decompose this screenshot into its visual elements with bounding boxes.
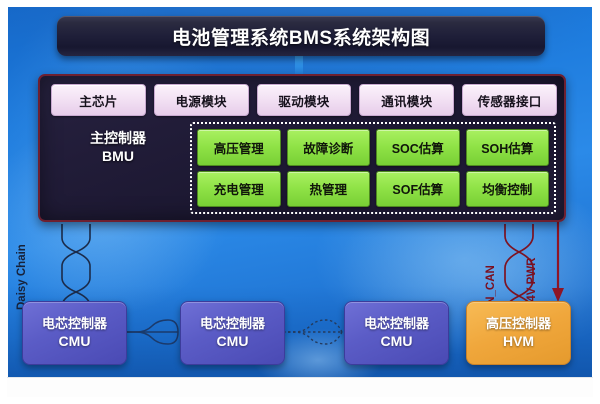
module-box-main-chip[interactable]: 主芯片	[51, 84, 146, 116]
module-box-communication[interactable]: 通讯模块	[359, 84, 454, 116]
hvm-line1: 高压控制器	[486, 315, 551, 333]
module-box-sensor-interface[interactable]: 传感器接口	[462, 84, 557, 116]
function-box-balance-control[interactable]: 均衡控制	[466, 171, 550, 208]
function-row-2: 充电管理 热管理 SOF估算 均衡控制	[197, 171, 549, 208]
cmu-2-line1: 电芯控制器	[200, 315, 265, 333]
function-box-soc-estimation[interactable]: SOC估算	[376, 129, 460, 166]
controller-box-cmu-3[interactable]: 电芯控制器 CMU	[344, 301, 449, 365]
bmu-label-line2: BMU	[54, 147, 182, 165]
function-row-1: 高压管理 故障诊断 SOC估算 SOH估算	[197, 129, 549, 166]
cmu-1-line2: CMU	[59, 332, 91, 351]
module-box-drive[interactable]: 驱动模块	[257, 84, 352, 116]
cmu-2-line2: CMU	[217, 332, 249, 351]
bms-architecture-diagram: 电池管理系统BMS系统架构图 主芯片 电源模块 驱动模块 通讯模块 传感器接口 …	[0, 0, 600, 404]
function-box-thermal-management[interactable]: 热管理	[287, 171, 371, 208]
page-title: 电池管理系统BMS系统架构图	[172, 23, 430, 50]
function-grid: 高压管理 故障诊断 SOC估算 SOH估算 充电管理 热管理 SOF估算 均衡控…	[190, 122, 556, 214]
controller-box-cmu-1[interactable]: 电芯控制器 CMU	[22, 301, 127, 365]
function-box-soh-estimation[interactable]: SOH估算	[466, 129, 550, 166]
function-box-sof-estimation[interactable]: SOF估算	[376, 171, 460, 208]
function-box-hv-management[interactable]: 高压管理	[197, 129, 281, 166]
module-box-power[interactable]: 电源模块	[154, 84, 249, 116]
diagram-title-bar: 电池管理系统BMS系统架构图	[57, 16, 545, 56]
cmu-3-line2: CMU	[381, 332, 413, 351]
cmu-1-line1: 电芯控制器	[42, 315, 107, 333]
bmu-label: 主控制器 BMU	[54, 129, 182, 166]
controller-box-hvm[interactable]: 高压控制器 HVM	[466, 301, 571, 365]
bottom-strip	[0, 377, 600, 404]
cmu-3-line1: 电芯控制器	[364, 315, 429, 333]
function-box-charge-management[interactable]: 充电管理	[197, 171, 281, 208]
daisy-chain-label: Daisy Chain	[16, 244, 28, 310]
bmu-panel: 主芯片 电源模块 驱动模块 通讯模块 传感器接口 主控制器 BMU 高压管理 故…	[38, 74, 566, 222]
function-box-fault-diagnosis[interactable]: 故障诊断	[287, 129, 371, 166]
bmu-label-line1: 主控制器	[54, 129, 182, 147]
module-row: 主芯片 电源模块 驱动模块 通讯模块 传感器接口	[51, 84, 557, 116]
hvm-line2: HVM	[503, 332, 534, 351]
controller-box-cmu-2[interactable]: 电芯控制器 CMU	[180, 301, 285, 365]
